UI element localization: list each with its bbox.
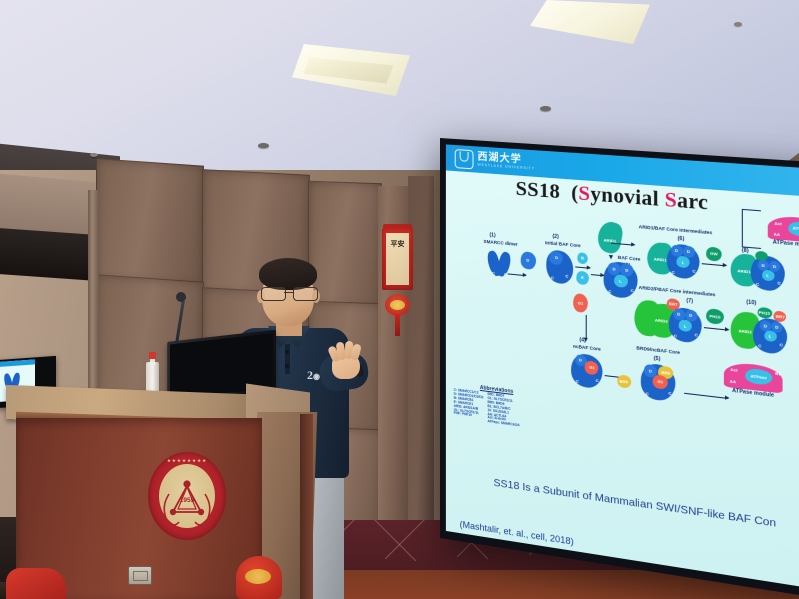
shirt-logo-icon: 2◉ [307,368,329,388]
presenter-hair [259,258,317,290]
step-label: ncBAF Core [563,342,611,354]
step-label: Initial BAF Core [530,239,596,251]
step-number: (7) [686,298,693,305]
sprinkler-icon [734,22,742,26]
sprinkler-icon [90,153,98,157]
presenter-hand [328,340,364,380]
step-label: SMARCC dimer [468,237,534,249]
abbreviations-col-right: BR1: BRD7 G1: GLTSCR1/1L BR9: BRD9 B1: B… [487,393,519,429]
microphone-head-icon [176,292,186,302]
chinese-scroll-decoration: 平安 [381,224,414,336]
projection-screen: 西湖大学 WESTLAKE UNIVERSITY SS18 (Synovial … [440,138,799,599]
presenter-placket [285,344,290,374]
step-number: (4) [579,337,585,344]
glasses-icon [260,287,317,300]
atpase-bracket [742,209,761,249]
pathway-label: ARID2/PBAF Core intermediates [639,285,753,302]
step-number: (6) [678,236,685,243]
university-emblem: 1955 ★★★★★★★★ ········· [148,452,226,540]
atpase-module-label: ATPase module [762,238,799,250]
step-number: (10) [746,299,756,306]
presentation-slide: 西湖大学 WESTLAKE UNIVERSITY SS18 (Synovial … [446,144,799,591]
abbreviations-box: Abbreviations C: SMARCC1/C2 D: SMARCD1/D… [454,382,540,432]
red-object-floor [6,568,66,599]
abbreviations-col-left: C: SMARCC1/C2 D: SMARCD1/D2/D3 B: SMARCB… [454,389,484,424]
step-number: (2) [552,234,558,241]
slide-citation: (Mashtalir, et. al., cell, 2018) [460,519,574,547]
wall-panel [96,158,204,288]
westlake-u-mark-icon [455,149,474,169]
podium-side-trim [300,414,313,599]
svg-text:1955: 1955 [180,497,195,504]
water-bottle [146,352,159,394]
emblem-artwork-icon: 1955 [148,452,226,540]
sprinkler-icon [540,106,551,111]
emblem-bottom-text: ········· [148,529,226,533]
power-outlet [128,566,152,585]
scroll-characters: 平安 [386,240,409,249]
presentation-room-photo: 平安 西湖大学 WESTLAKE UNIVERSITY SS18 (Synovi… [0,0,799,599]
step-number: (1) [489,232,495,239]
screen-surface: 西湖大学 WESTLAKE UNIVERSITY SS18 (Synovial … [446,144,799,591]
pathway-label: ARID1/BAF Core intermediates [639,224,738,238]
emblem-top-text: ★★★★★★★★ [148,458,226,464]
sprinkler-icon [258,143,269,148]
step-number: (5) [654,356,661,363]
red-lantern-object [236,556,282,599]
